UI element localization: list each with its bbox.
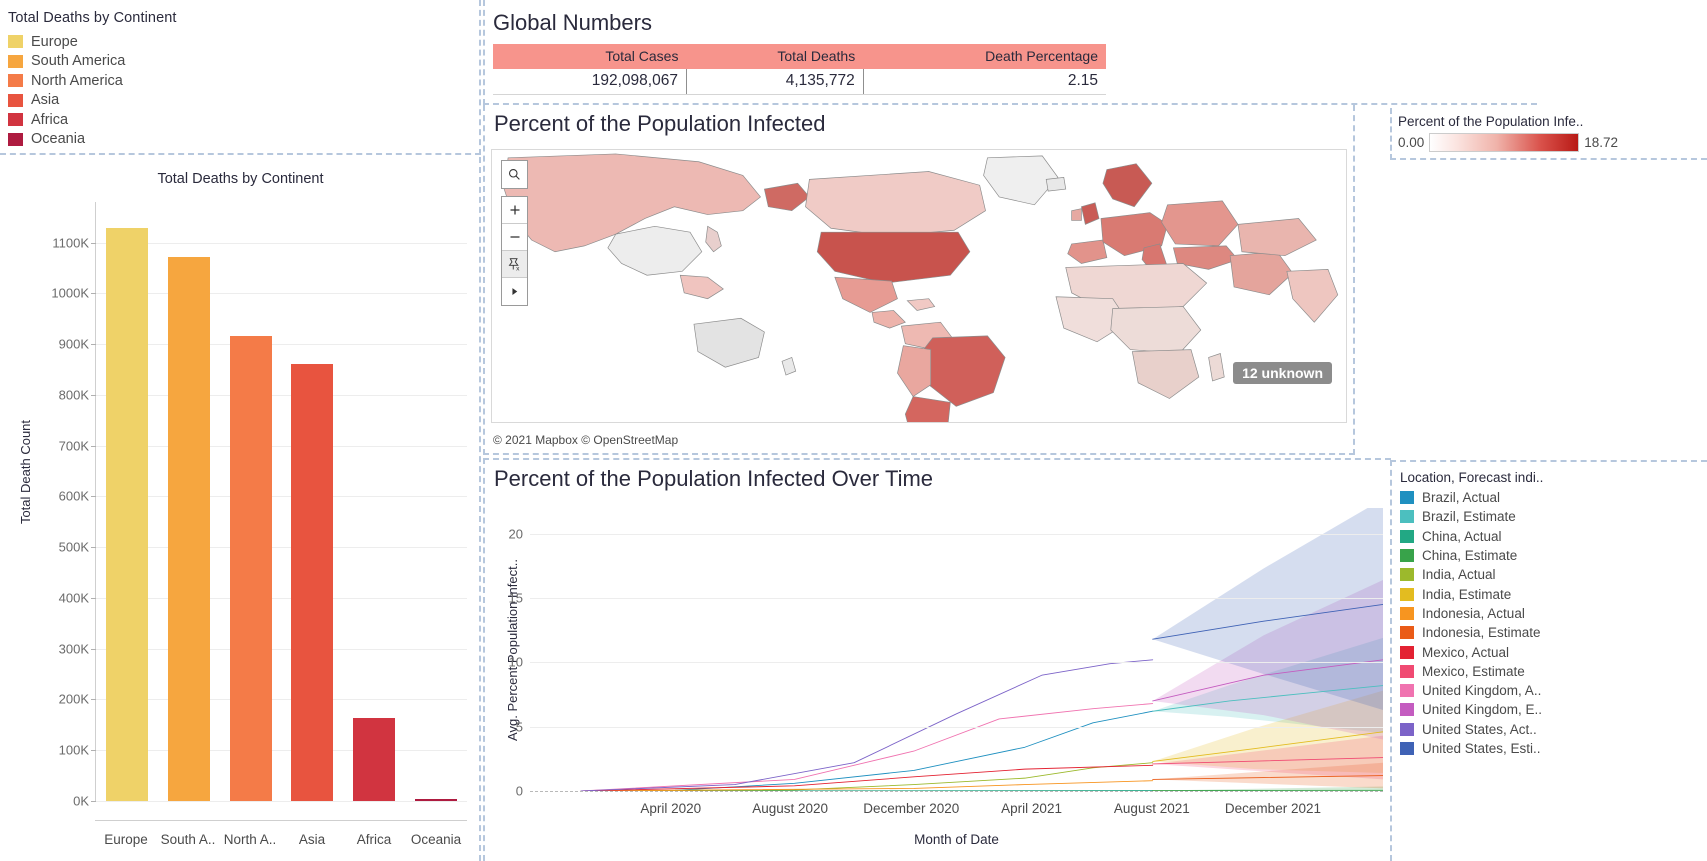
- continent-legend-label: Europe: [31, 34, 78, 50]
- x-tick-label: December 2020: [863, 801, 959, 816]
- map-canvas[interactable]: x 12 unknown: [491, 149, 1347, 423]
- y-tick-label: 800K: [59, 387, 89, 402]
- y-tick-label: 100K: [59, 743, 89, 758]
- continent-legend-item[interactable]: Oceania: [8, 130, 479, 150]
- continent-legend-title: Total Deaths by Continent: [8, 10, 479, 26]
- map-country-china-east[interactable]: [608, 226, 702, 275]
- line-legend-label: Brazil, Actual: [1422, 490, 1500, 505]
- table-header-cell[interactable]: Total Deaths: [686, 44, 863, 69]
- line-legend-item[interactable]: India, Estimate: [1400, 584, 1707, 603]
- map-country-india[interactable]: [1287, 269, 1338, 322]
- x-tick-label: South A..: [157, 832, 219, 847]
- x-tick-label: Oceania: [405, 832, 467, 847]
- line-legend-item[interactable]: China, Actual: [1400, 527, 1707, 546]
- bar[interactable]: [415, 799, 457, 801]
- global-numbers-header-row: Total CasesTotal DeathsDeath Percentage: [493, 44, 1106, 69]
- line-legend-label: China, Actual: [1422, 529, 1502, 544]
- table-cell: 4,135,772: [686, 69, 863, 95]
- y-tick-label: 200K: [59, 692, 89, 707]
- line-legend-label: Indonesia, Actual: [1422, 606, 1525, 621]
- line-legend-item[interactable]: Indonesia, Estimate: [1400, 623, 1707, 642]
- bar-column[interactable]: [158, 202, 220, 801]
- continent-legend-label: Africa: [31, 112, 68, 128]
- map-country-nz[interactable]: [782, 357, 796, 375]
- x-tick-label: North A..: [219, 832, 281, 847]
- world-map-choropleth[interactable]: [492, 150, 1346, 422]
- line-legend-label: Indonesia, Estimate: [1422, 625, 1541, 640]
- line-legend-label: United Kingdom, A..: [1422, 683, 1541, 698]
- bar-column[interactable]: [220, 202, 282, 801]
- gridline: [530, 534, 1383, 535]
- svg-text:x: x: [516, 265, 520, 272]
- table-cell: 2.15: [863, 69, 1106, 95]
- line-legend-item[interactable]: United Kingdom, A..: [1400, 681, 1707, 700]
- map-unknown-badge[interactable]: 12 unknown: [1233, 362, 1332, 384]
- line-legend-label: United States, Esti..: [1422, 741, 1541, 756]
- y-tick-label: 600K: [59, 489, 89, 504]
- play-icon[interactable]: [502, 278, 527, 305]
- bar-column[interactable]: [405, 202, 467, 801]
- line-legend-label: China, Estimate: [1422, 548, 1517, 563]
- line-legend-label: Mexico, Estimate: [1422, 664, 1525, 679]
- color-swatch-icon: [1400, 626, 1414, 639]
- y-tick-mark: [91, 801, 96, 802]
- map-country-s-africa[interactable]: [1132, 350, 1199, 399]
- y-tick-label: 0K: [73, 794, 89, 809]
- plus-icon[interactable]: [502, 197, 527, 224]
- bar-column[interactable]: [343, 202, 405, 801]
- color-swatch-icon: [1400, 723, 1414, 736]
- bar[interactable]: [230, 336, 272, 801]
- line-legend-label: India, Actual: [1422, 567, 1496, 582]
- x-tick-label: Africa: [343, 832, 405, 847]
- color-swatch-icon: [1400, 684, 1414, 697]
- continent-legend-item[interactable]: South America: [8, 52, 479, 72]
- color-swatch-icon: [1400, 703, 1414, 716]
- continent-legend-item[interactable]: Europe: [8, 32, 479, 52]
- color-swatch-icon: [1400, 607, 1414, 620]
- gridline: [530, 791, 1383, 792]
- line-legend-label: India, Estimate: [1422, 587, 1511, 602]
- color-swatch-icon: [1400, 568, 1414, 581]
- gridline: [530, 662, 1383, 663]
- global-numbers-panel: Global Numbers Total CasesTotal DeathsDe…: [483, 0, 1537, 105]
- map-legend-ramp-row: 0.00 18.72: [1398, 133, 1707, 152]
- y-tick-label: 700K: [59, 438, 89, 453]
- continent-legend-item[interactable]: Asia: [8, 91, 479, 111]
- gridline: [96, 801, 467, 802]
- map-country-e-europe[interactable]: [1162, 201, 1238, 246]
- map-country-alaska[interactable]: [764, 183, 809, 210]
- line-legend-label: United Kingdom, E..: [1422, 702, 1542, 717]
- line-chart-x-tick-labels: April 2020August 2020December 2020April …: [530, 801, 1383, 819]
- bar[interactable]: [291, 364, 333, 801]
- table-cell: 192,098,067: [493, 69, 686, 95]
- bar-chart-bars: [96, 202, 467, 801]
- x-tick-label: Asia: [281, 832, 343, 847]
- map-country-scandinavia[interactable]: [1103, 164, 1152, 207]
- line-series[interactable]: [581, 711, 1153, 791]
- line-legend-item[interactable]: Mexico, Estimate: [1400, 662, 1707, 681]
- line-chart-plot-area: 05101520: [530, 508, 1383, 791]
- map-country-mexico[interactable]: [835, 277, 898, 312]
- y-tick-label: 20: [509, 526, 523, 541]
- map-country-japan[interactable]: [706, 226, 722, 251]
- map-country-iceland[interactable]: [1046, 177, 1066, 191]
- color-swatch-icon: [8, 113, 23, 126]
- color-swatch-icon: [1400, 665, 1414, 678]
- map-legend-color-ramp: [1429, 133, 1579, 152]
- x-tick-label: August 2020: [752, 801, 828, 816]
- bar-chart-y-axis-label: Total Death Count: [18, 387, 33, 557]
- color-swatch-icon: [8, 55, 23, 68]
- map-title: Percent of the Population Infected: [494, 111, 1347, 137]
- bar-column[interactable]: [96, 202, 158, 801]
- minus-icon[interactable]: [502, 224, 527, 251]
- bar[interactable]: [106, 228, 148, 801]
- map-zoom-controls[interactable]: x: [501, 196, 528, 306]
- global-numbers-data-row: 192,098,0674,135,7722.15: [493, 69, 1106, 95]
- map-legend-title: Percent of the Population Infe..: [1398, 114, 1707, 129]
- map-country-ireland[interactable]: [1072, 209, 1082, 221]
- line-legend-item[interactable]: Brazil, Actual: [1400, 488, 1707, 507]
- line-legend-item[interactable]: Indonesia, Actual: [1400, 604, 1707, 623]
- map-country-central-america[interactable]: [872, 310, 905, 328]
- global-numbers-table: Total CasesTotal DeathsDeath Percentage …: [493, 44, 1106, 95]
- color-swatch-icon: [8, 133, 23, 146]
- gridline: [530, 598, 1383, 599]
- x-tick-label: April 2021: [1001, 801, 1062, 816]
- x-tick-label: December 2021: [1225, 801, 1321, 816]
- total-deaths-bar-chart: Total Deaths by Continent Total Death Co…: [0, 157, 481, 861]
- map-country-uk[interactable]: [1081, 203, 1099, 225]
- table-header-cell[interactable]: Total Cases: [493, 44, 686, 69]
- y-tick-label: 1100K: [52, 235, 89, 250]
- map-country-brazil[interactable]: [919, 336, 1005, 406]
- line-chart-x-axis-label: Month of Date: [530, 832, 1383, 847]
- bar-column[interactable]: [281, 202, 343, 801]
- map-country-caribbean[interactable]: [907, 299, 934, 311]
- tableau-dashboard: Total Deaths by Continent EuropeSouth Am…: [0, 0, 1707, 861]
- color-swatch-icon: [1400, 646, 1414, 659]
- line-legend-item[interactable]: China, Estimate: [1400, 546, 1707, 565]
- bar-chart-x-tick-labels: EuropeSouth A..North A..AsiaAfricaOceani…: [95, 832, 467, 847]
- y-tick-label: 15: [509, 591, 523, 606]
- line-series[interactable]: [581, 781, 1153, 791]
- y-tick-label: 900K: [59, 337, 89, 352]
- y-tick-label: 300K: [59, 641, 89, 656]
- color-swatch-icon: [8, 74, 23, 87]
- continent-legend-label: Oceania: [31, 131, 85, 147]
- continent-legend-items: EuropeSouth AmericaNorth AmericaAsiaAfri…: [8, 32, 479, 149]
- color-swatch-icon: [8, 94, 23, 107]
- map-country-iberia[interactable]: [1068, 240, 1107, 263]
- bar-chart-title: Total Deaths by Continent: [0, 171, 481, 187]
- line-legend-item[interactable]: United States, Esti..: [1400, 739, 1707, 758]
- continent-legend-label: North America: [31, 73, 123, 89]
- map-country-usa[interactable]: [817, 232, 970, 283]
- bar-chart-x-axis-line: [95, 820, 467, 821]
- y-tick-label: 5: [516, 719, 523, 734]
- bar[interactable]: [353, 718, 395, 801]
- map-country-se-asia[interactable]: [680, 275, 723, 298]
- line-chart-color-legend: Location, Forecast indi.. Brazil, Actual…: [1390, 460, 1707, 861]
- gridline: [530, 727, 1383, 728]
- map-country-middle-east[interactable]: [1230, 252, 1293, 295]
- line-legend-item[interactable]: United Kingdom, E..: [1400, 700, 1707, 719]
- color-swatch-icon: [1400, 549, 1414, 562]
- color-swatch-icon: [1400, 742, 1414, 755]
- global-numbers-title: Global Numbers: [493, 10, 1537, 36]
- continent-legend-label: South America: [31, 53, 125, 69]
- line-chart-series: [530, 508, 1383, 791]
- map-legend-max-value: 18.72: [1584, 135, 1618, 150]
- map-country-australia[interactable]: [694, 318, 764, 367]
- map-country-argentina-chile[interactable]: [905, 397, 950, 422]
- map-color-legend: Percent of the Population Infe.. 0.00 18…: [1390, 108, 1707, 160]
- map-legend-min-value: 0.00: [1398, 135, 1424, 150]
- y-tick-label: 500K: [59, 540, 89, 555]
- line-legend-item[interactable]: India, Actual: [1400, 565, 1707, 584]
- y-tick-label: 400K: [59, 590, 89, 605]
- y-tick-label: 0: [516, 784, 523, 799]
- continent-legend-label: Asia: [31, 92, 59, 108]
- x-tick-label: Europe: [95, 832, 157, 847]
- bar[interactable]: [168, 257, 210, 801]
- y-tick-label: 1000K: [51, 286, 89, 301]
- line-legend-items: Brazil, ActualBrazil, EstimateChina, Act…: [1400, 488, 1707, 758]
- line-legend-item[interactable]: Mexico, Actual: [1400, 642, 1707, 661]
- table-header-cell[interactable]: Death Percentage: [863, 44, 1106, 69]
- line-legend-item[interactable]: United States, Act..: [1400, 720, 1707, 739]
- color-swatch-icon: [1400, 588, 1414, 601]
- color-swatch-icon: [1400, 491, 1414, 504]
- continent-color-legend: Total Deaths by Continent EuropeSouth Am…: [0, 0, 481, 155]
- line-chart-y-axis-label: Avg. Percent Population Infect..: [505, 525, 520, 775]
- line-legend-title: Location, Forecast indi..: [1400, 470, 1707, 485]
- search-icon[interactable]: [502, 161, 527, 188]
- line-chart-title: Percent of the Population Infected Over …: [494, 466, 1391, 492]
- map-country-c-africa[interactable]: [1111, 307, 1201, 354]
- y-tick-label: 10: [509, 655, 523, 670]
- map-country-madagascar[interactable]: [1209, 354, 1225, 381]
- line-series[interactable]: [581, 704, 1153, 791]
- continent-legend-item[interactable]: Africa: [8, 110, 479, 130]
- map-search-control[interactable]: [501, 160, 528, 189]
- infected-over-time-panel: Percent of the Population Infected Over …: [483, 458, 1391, 861]
- line-legend-item[interactable]: Brazil, Estimate: [1400, 507, 1707, 526]
- color-swatch-icon: [1400, 530, 1414, 543]
- line-legend-label: Mexico, Actual: [1422, 645, 1509, 660]
- pin-clear-icon[interactable]: x: [502, 251, 527, 278]
- line-legend-label: Brazil, Estimate: [1422, 509, 1516, 524]
- map-country-peru-bolivia[interactable]: [897, 346, 930, 397]
- population-infected-map-panel: Percent of the Population Infected: [483, 105, 1355, 455]
- x-tick-label: August 2021: [1114, 801, 1190, 816]
- color-swatch-icon: [1400, 510, 1414, 523]
- map-country-canada[interactable]: [806, 172, 986, 237]
- color-swatch-icon: [8, 35, 23, 48]
- map-country-central-asia[interactable]: [1238, 218, 1316, 255]
- line-legend-label: United States, Act..: [1422, 722, 1537, 737]
- continent-legend-item[interactable]: North America: [8, 71, 479, 91]
- map-attribution: © 2021 Mapbox © OpenStreetMap: [493, 433, 678, 447]
- bar-chart-plot-area: 0K100K200K300K400K500K600K700K800K900K10…: [95, 202, 467, 801]
- x-tick-label: April 2020: [640, 801, 701, 816]
